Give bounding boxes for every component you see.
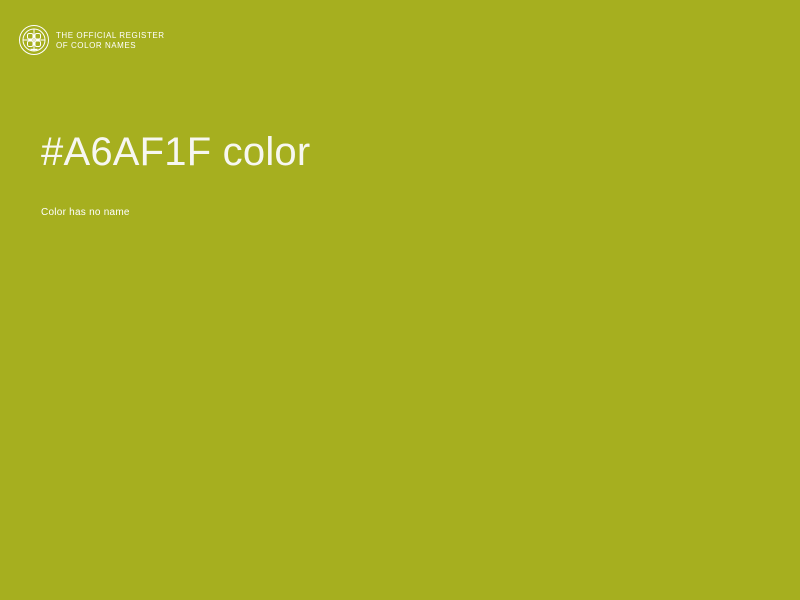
color-name-status: Color has no name (41, 176, 741, 220)
color-info-block: #A6AF1F color Color has no name (41, 128, 741, 220)
brand-wordmark: THE OFFICIAL REGISTER OF COLOR NAMES (56, 30, 165, 50)
color-page: THE OFFICIAL REGISTER OF COLOR NAMES #A6… (0, 0, 800, 600)
brand-line-1: THE OFFICIAL REGISTER (56, 31, 165, 41)
brand-logo[interactable]: THE OFFICIAL REGISTER OF COLOR NAMES (18, 24, 165, 56)
page-title: #A6AF1F color (41, 128, 741, 176)
register-seal-icon (18, 24, 50, 56)
brand-line-2: OF COLOR NAMES (56, 41, 165, 51)
